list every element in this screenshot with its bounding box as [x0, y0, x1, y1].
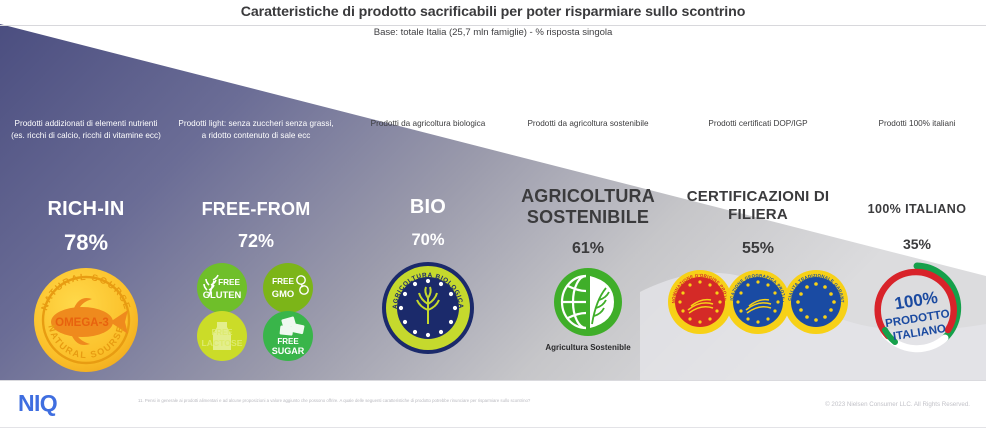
- column-caption: Prodotti certificati DOP/IGP: [660, 118, 856, 142]
- column-value: 70%: [411, 231, 444, 250]
- question-note: 11. Pensi in generale ai prodotti alimen…: [138, 398, 588, 405]
- agricultura-sostenible-badge: [552, 266, 624, 338]
- column-value: 78%: [64, 230, 108, 256]
- svg-text:FREE: FREE: [272, 277, 294, 286]
- column-value: 72%: [238, 231, 274, 252]
- column-label: CERTIFICAZIONI DI FILIERA: [660, 188, 856, 224]
- column-bio: Prodotti da agricoltura biologica BIO 70…: [344, 118, 512, 380]
- svg-text:GMO: GMO: [272, 288, 294, 299]
- free-gluten-badge: FREE GLUTEN: [197, 263, 247, 313]
- column-free-from: Prodotti light: senza zuccheri senza gra…: [168, 118, 344, 380]
- page-subtitle: Base: totale Italia (25,7 mln famiglie) …: [0, 20, 986, 38]
- free-gmo-badge: FREE GMO: [263, 263, 313, 313]
- svg-text:LACTOSE: LACTOSE: [202, 338, 243, 348]
- copyright-text: © 2023 Nielsen Consumer LLC. All Rights …: [825, 401, 970, 408]
- column-caption: Prodotti light: senza zuccheri senza gra…: [168, 118, 344, 148]
- sostenible-badge-label: Agricultura Sostenible: [545, 343, 630, 352]
- page-title: Caratteristiche di prodotto sacrificabil…: [0, 0, 986, 20]
- svg-text:FREE: FREE: [218, 278, 240, 287]
- svg-text:GLUTEN: GLUTEN: [203, 289, 242, 300]
- svg-text:SUGAR: SUGAR: [272, 346, 305, 356]
- slide-root: Caratteristiche di prodotto sacrificabil…: [0, 0, 986, 428]
- svg-text:FREE: FREE: [277, 337, 299, 346]
- badges-group: Agricultura Sostenible: [545, 266, 630, 352]
- badges-group: FREE GLUTEN FREE GMO: [188, 260, 324, 364]
- column-value: 61%: [572, 240, 604, 258]
- agricoltura-biologica-badge: AGRICOLTURA BIOLOGICA: [380, 260, 476, 356]
- column-label: RICH-IN: [48, 198, 125, 220]
- column-label: AGRICOLTURA SOSTENIBILE: [500, 186, 676, 228]
- omega3-natural-source-badge: OMEGA-3 NATURAL SOURSE NATURAL SOURSE: [30, 264, 142, 376]
- column-caption: Prodotti da agricoltura sostenibile: [500, 118, 676, 142]
- eu-certification-badges: DENOMINAZIONE D'ORIGINE PROTETTA: [668, 268, 848, 336]
- svg-text:FREE: FREE: [212, 328, 233, 337]
- column-100-italiano: Prodotti 100% italiani 100% ITALIANO 35%…: [848, 118, 986, 380]
- column-label: BIO: [410, 196, 446, 218]
- columns-container: Prodotti addizionati di elementi nutrien…: [0, 118, 986, 380]
- free-sugar-badge: FREE SUGAR: [263, 311, 313, 361]
- niq-logo: NIQ: [18, 390, 57, 417]
- column-label: FREE-FROM: [202, 198, 311, 220]
- badges-group: OMEGA-3 NATURAL SOURSE NATURAL SOURSE: [30, 264, 142, 376]
- column-rich-in: Prodotti addizionati di elementi nutrien…: [0, 118, 172, 380]
- column-value: 35%: [903, 236, 931, 252]
- column-caption: Prodotti 100% italiani: [848, 118, 986, 142]
- dop-badge: DENOMINAZIONE D'ORIGINE PROTETTA: [668, 268, 732, 334]
- column-caption: Prodotti addizionati di elementi nutrien…: [0, 118, 172, 154]
- column-certificazioni-filiera: Prodotti certificati DOP/IGP CERTIFICAZI…: [660, 118, 856, 380]
- footer-top-divider: [0, 380, 986, 381]
- omega3-center-text: OMEGA-3: [55, 317, 109, 329]
- column-value: 55%: [742, 240, 774, 258]
- badges-group: DENOMINAZIONE D'ORIGINE PROTETTA: [668, 268, 848, 336]
- free-lactose-badge: FREE LACTOSE: [197, 311, 247, 361]
- column-caption: Prodotti da agricoltura biologica: [344, 118, 512, 142]
- prodotto-italiano-badge: 100% PRODOTTO ITALIANO: [868, 260, 966, 354]
- column-agricoltura-sostenibile: Prodotti da agricoltura sostenibile AGRI…: [500, 118, 676, 380]
- italiano-line1: 100%: [893, 288, 939, 314]
- badges-group: 100% PRODOTTO ITALIANO: [868, 260, 966, 354]
- column-label: 100% ITALIANO: [868, 198, 967, 220]
- header: Caratteristiche di prodotto sacrificabil…: [0, 0, 986, 46]
- badges-group: AGRICOLTURA BIOLOGICA: [380, 260, 476, 356]
- free-from-badges: FREE GLUTEN FREE GMO: [188, 260, 324, 364]
